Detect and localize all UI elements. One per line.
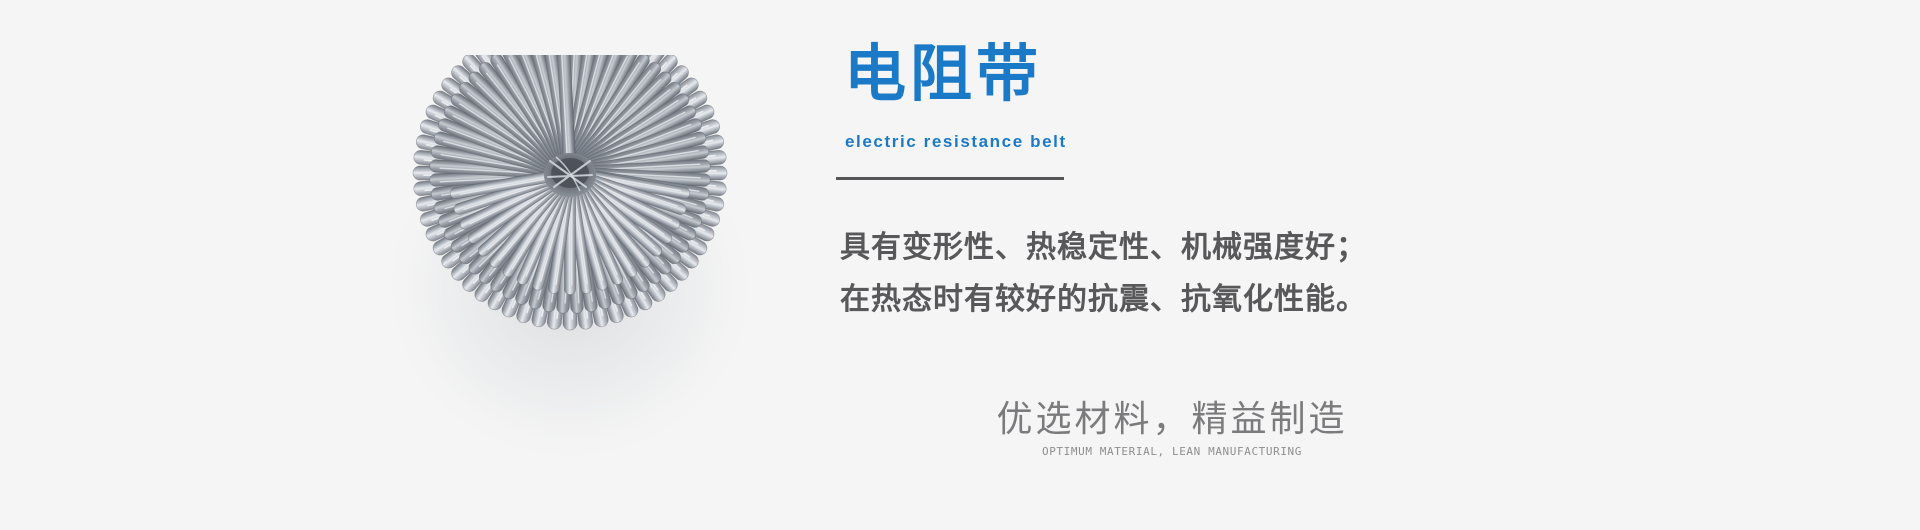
page-subtitle: electric resistance belt <box>845 133 1067 150</box>
title-divider <box>836 177 1064 180</box>
product-illustration <box>355 55 785 485</box>
product-description: 具有变形性、热稳定性、机械强度好； 在热态时有较好的抗震、抗氧化性能。 <box>840 222 1480 326</box>
product-banner: 电阻带 electric resistance belt 具有变形性、热稳定性、… <box>0 0 1920 530</box>
slogan-chinese: 优选材料，精益制造 <box>942 396 1402 442</box>
slogan-english: OPTIMUM MATERIAL, LEAN MANUFACTURING <box>942 445 1402 459</box>
coil-hub <box>544 153 596 197</box>
banner-content: 电阻带 electric resistance belt 具有变形性、热稳定性、… <box>836 0 1876 530</box>
description-line-1: 具有变形性、热稳定性、机械强度好； <box>840 222 1480 274</box>
page-title: 电阻带 <box>844 44 1042 106</box>
slogan-block: 优选材料，精益制造 OPTIMUM MATERIAL, LEAN MANUFAC… <box>942 396 1402 459</box>
product-image <box>355 55 785 485</box>
description-line-2: 在热态时有较好的抗震、抗氧化性能。 <box>840 274 1480 326</box>
